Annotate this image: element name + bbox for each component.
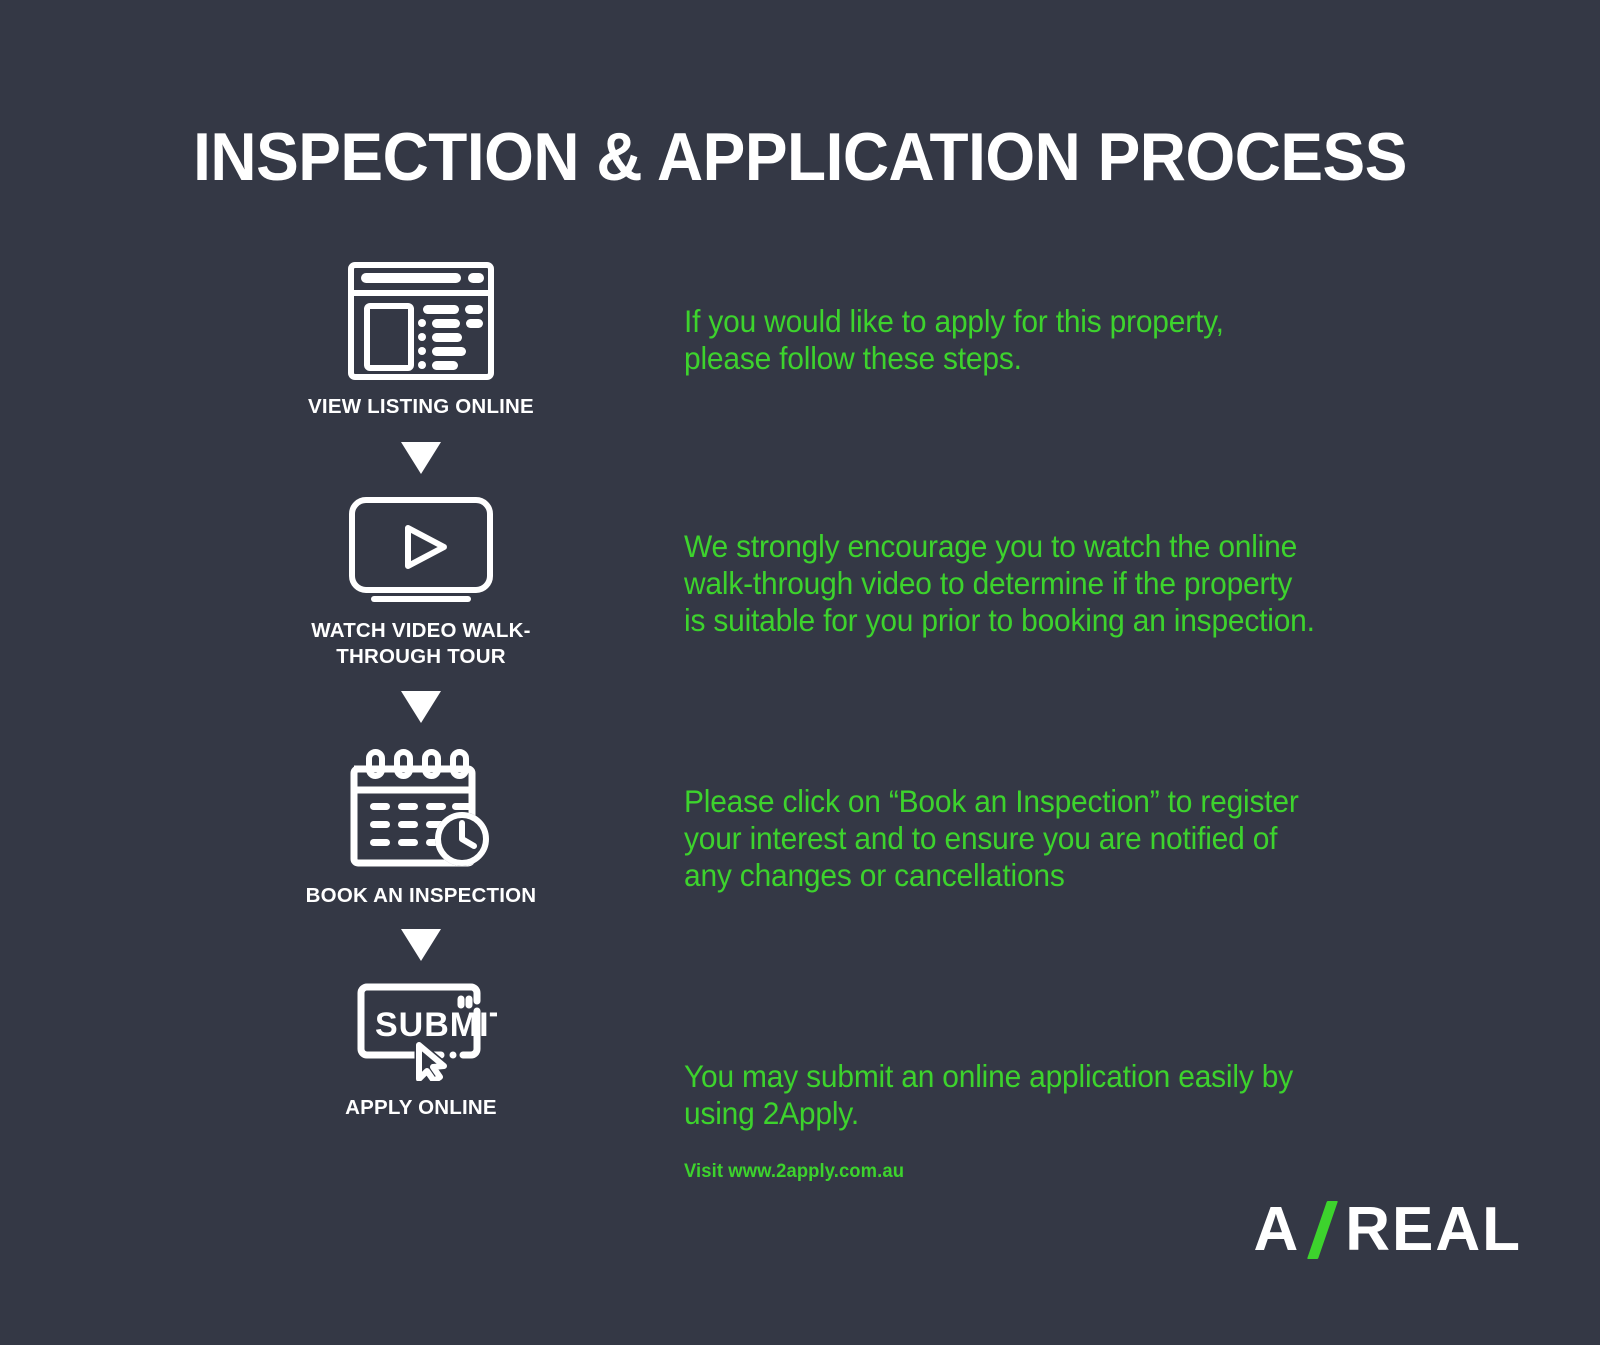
down-arrow-icon [275, 691, 567, 723]
flow-step-watch-video: WATCH VIDEO WALK-THROUGH TOUR [275, 496, 567, 670]
down-arrow-icon [275, 929, 567, 961]
calendar-clock-icon [275, 743, 567, 869]
process-flow: VIEW LISTING ONLINE WATCH VIDEO WALK-THR… [275, 262, 567, 1121]
copy-block-watch-video: We strongly encourage you to watch the o… [684, 528, 1315, 639]
brand-logo: A REAL [1253, 1194, 1522, 1265]
submit-button-cursor-icon: SUBMIT [275, 981, 567, 1081]
flow-step-apply-online: SUBMIT APPLY ONLINE [275, 981, 567, 1121]
slash-icon [1307, 1201, 1341, 1259]
logo-word-real: REAL [1345, 1194, 1522, 1265]
flow-step-label: VIEW LISTING ONLINE [275, 394, 567, 420]
copy-block-apply-online: You may submit an online application eas… [684, 1058, 1293, 1132]
svg-text:SUBMIT: SUBMIT [375, 1006, 497, 1044]
infographic-poster: INSPECTION & APPLICATION PROCESS [0, 0, 1600, 1345]
video-player-icon [275, 496, 567, 604]
flow-step-label: APPLY ONLINE [275, 1095, 567, 1121]
flow-step-view-listing: VIEW LISTING ONLINE [275, 262, 567, 420]
browser-listing-icon [275, 262, 567, 380]
visit-website-link[interactable]: Visit www.2apply.com.au [684, 1161, 904, 1183]
copy-block-intro: If you would like to apply for this prop… [684, 303, 1224, 377]
down-arrow-icon [275, 442, 567, 474]
flow-step-label: WATCH VIDEO WALK-THROUGH TOUR [275, 618, 567, 670]
flow-step-label: BOOK AN INSPECTION [275, 883, 567, 909]
page-title: INSPECTION & APPLICATION PROCESS [48, 118, 1552, 196]
flow-step-book-inspection: BOOK AN INSPECTION [275, 743, 567, 909]
logo-letter-a: A [1253, 1194, 1299, 1265]
copy-block-book-inspection: Please click on “Book an Inspection” to … [684, 783, 1299, 894]
